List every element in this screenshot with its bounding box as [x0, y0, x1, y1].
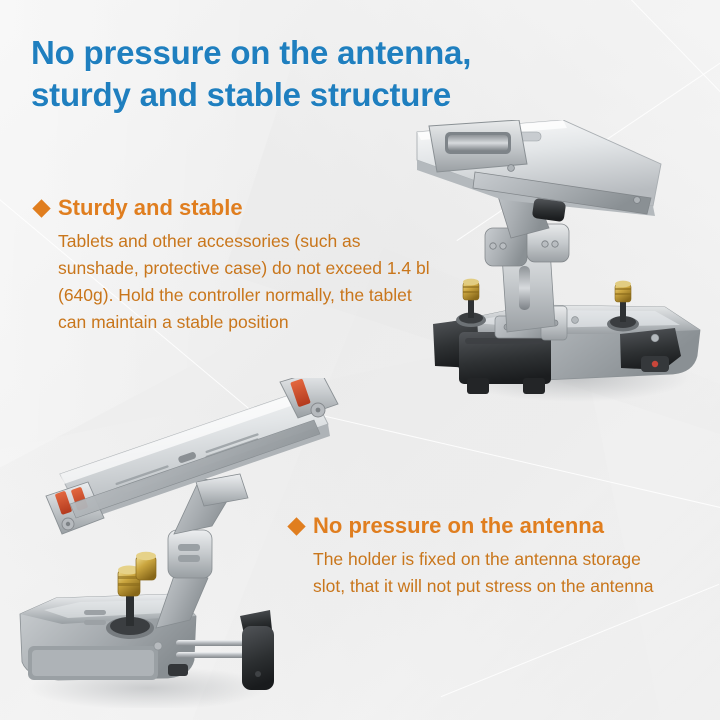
feature-body-text: The holder is fixed on the antenna stora…: [313, 546, 720, 600]
product-illustration-bottom: [18, 378, 358, 708]
control-stick-left: [456, 279, 486, 327]
product-illustration-top: [415, 120, 720, 405]
page-title: No pressure on the antenna, sturdy and s…: [31, 32, 631, 116]
phone-clip: [240, 610, 274, 690]
product-photo-top: [415, 120, 720, 405]
feature-heading-text: Sturdy and stable: [58, 194, 243, 222]
product-photo-bottom: [18, 378, 358, 708]
folding-arm: [156, 474, 248, 628]
hinge: [168, 530, 212, 578]
infographic-page: No pressure on the antenna, sturdy and s…: [0, 0, 720, 720]
feature-block-sturdy-and-stable: Sturdy and stable Tablets and other acce…: [35, 194, 478, 336]
diamond-bullet-icon: [32, 199, 50, 217]
feature-heading-row: Sturdy and stable: [35, 194, 478, 222]
